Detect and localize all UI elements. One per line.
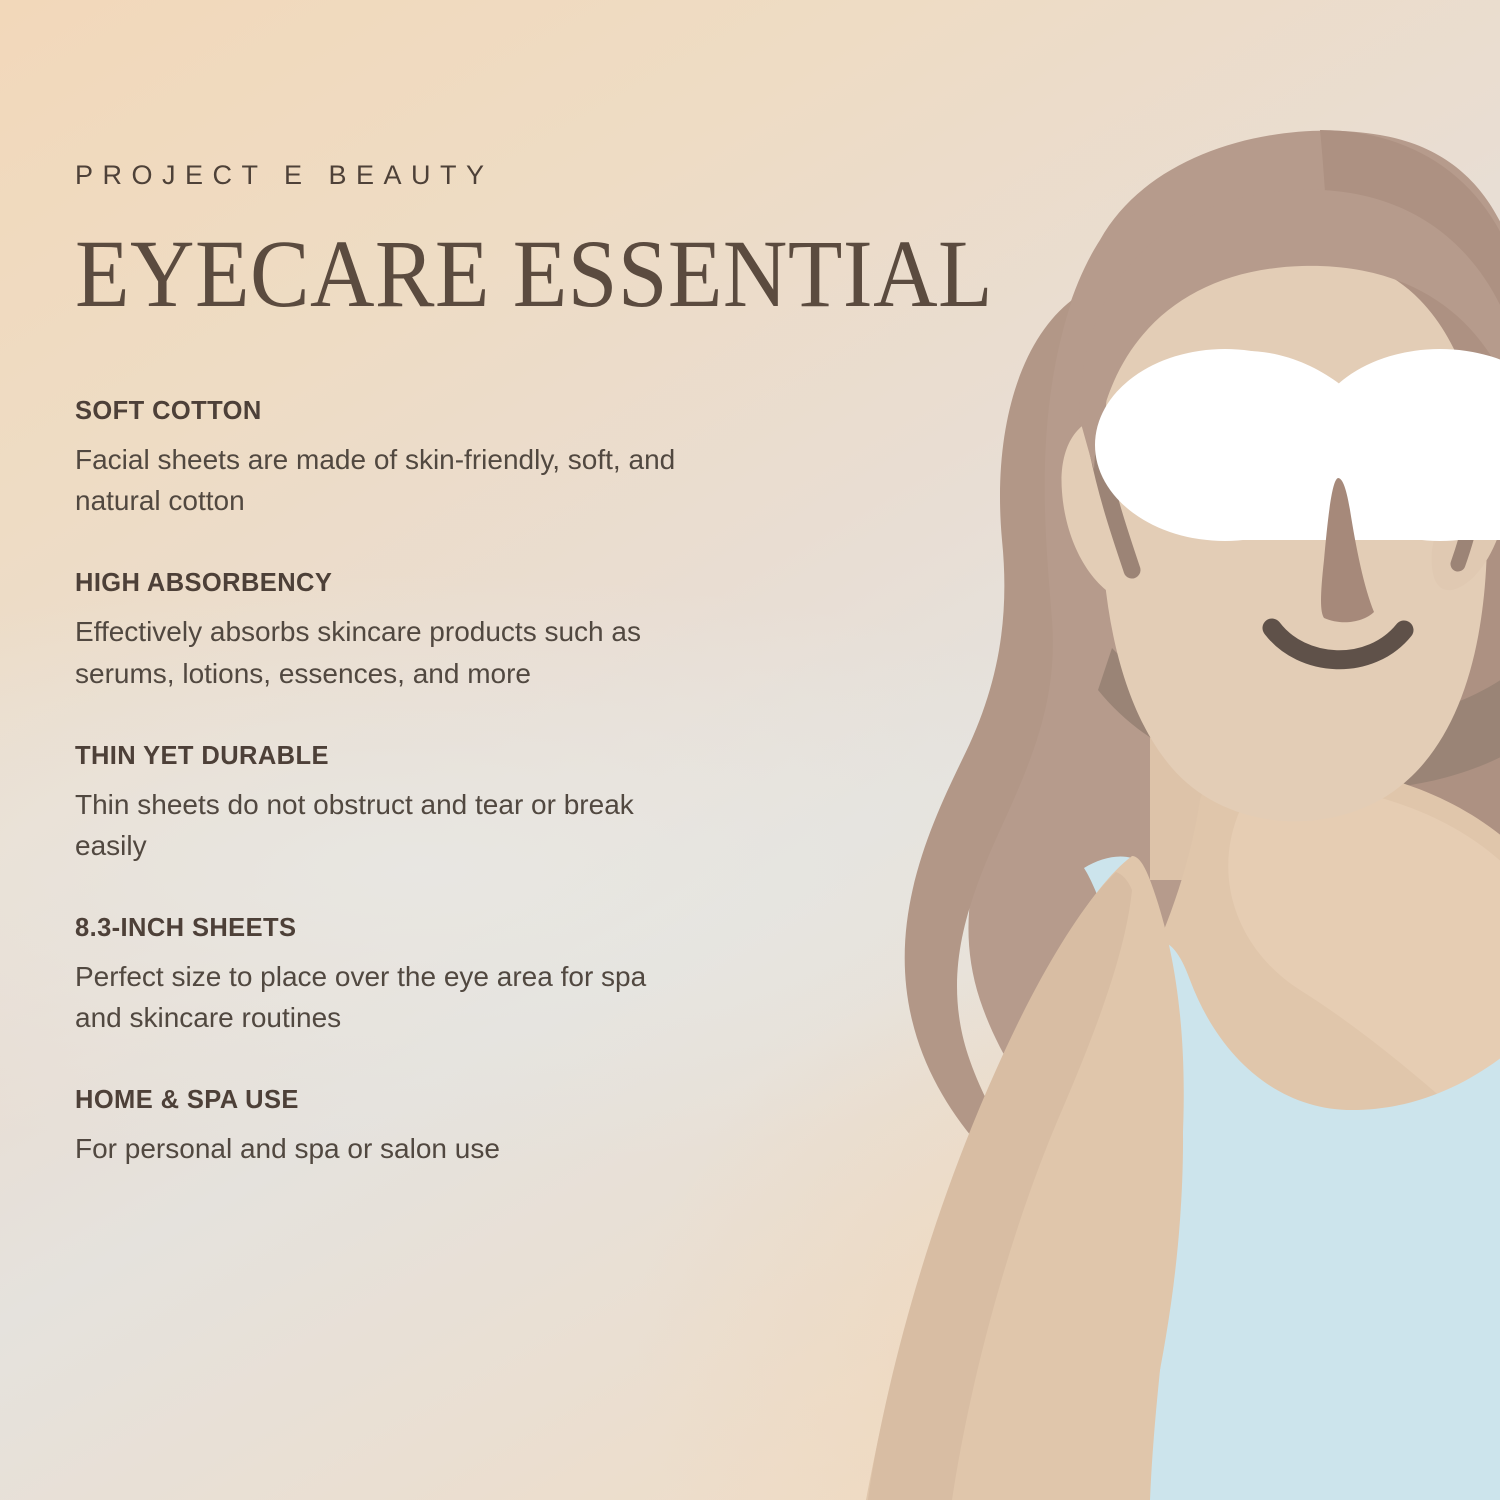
product-feature-graphic: PROJECT E BEAUTY EYECARE ESSENTIAL SOFT … [0, 0, 1500, 1500]
feature-item-home-spa-use: HOME & SPA USE For personal and spa or s… [75, 1086, 715, 1169]
feature-list: SOFT COTTON Facial sheets are made of sk… [75, 397, 715, 1169]
feature-title: SOFT COTTON [75, 397, 715, 426]
page-title: EYECARE ESSENTIAL [75, 227, 670, 321]
feature-body: Thin sheets do not obstruct and tear or … [75, 784, 695, 866]
text-column: PROJECT E BEAUTY EYECARE ESSENTIAL SOFT … [75, 0, 715, 1169]
feature-item-8-3-inch-sheets: 8.3-INCH SHEETS Perfect size to place ov… [75, 914, 715, 1038]
feature-title: 8.3-INCH SHEETS [75, 914, 715, 943]
feature-body: Facial sheets are made of skin-friendly,… [75, 439, 695, 521]
eye-mask [1095, 349, 1500, 541]
feature-item-high-absorbency: HIGH ABSORBENCY Effectively absorbs skin… [75, 569, 715, 693]
feature-title: HOME & SPA USE [75, 1086, 715, 1115]
feature-body: Effectively absorbs skincare products su… [75, 611, 695, 693]
feature-body: For personal and spa or salon use [75, 1128, 695, 1169]
feature-body: Perfect size to place over the eye area … [75, 956, 695, 1038]
feature-item-thin-yet-durable: THIN YET DURABLE Thin sheets do not obst… [75, 742, 715, 866]
feature-title: HIGH ABSORBENCY [75, 569, 715, 598]
feature-item-soft-cotton: SOFT COTTON Facial sheets are made of sk… [75, 397, 715, 521]
brand-name: PROJECT E BEAUTY [75, 160, 715, 191]
feature-title: THIN YET DURABLE [75, 742, 715, 771]
